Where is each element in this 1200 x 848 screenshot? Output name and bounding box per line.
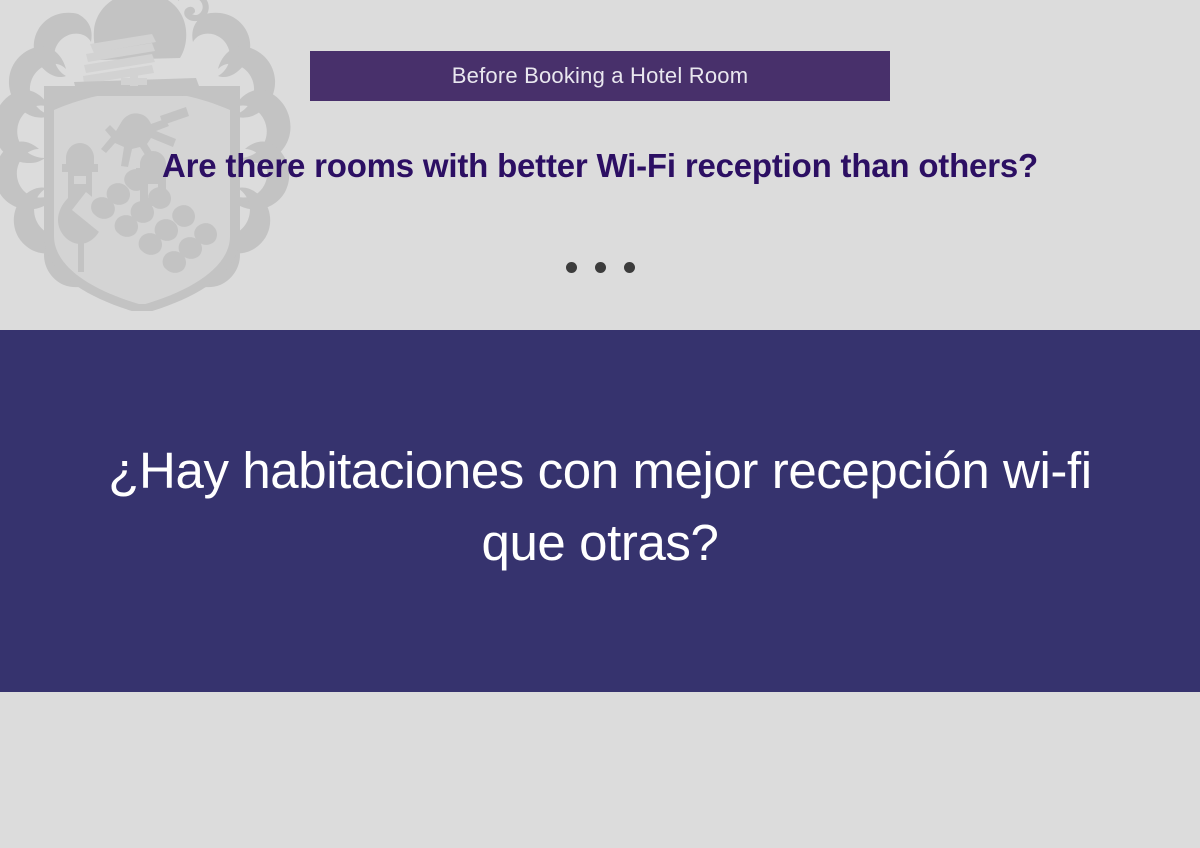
question-english: Are there rooms with better Wi-Fi recept… (50, 142, 1150, 190)
ellipsis-separator-icon (0, 262, 1200, 273)
bottom-filler-area (0, 692, 1200, 848)
header-section: Before Booking a Hotel Room Are there ro… (0, 0, 1200, 330)
page-root: Before Booking a Hotel Room Are there ro… (0, 0, 1200, 848)
category-banner-label: Before Booking a Hotel Room (452, 65, 748, 87)
translation-band: ¿Hay habitaciones con mejor recepción wi… (0, 330, 1200, 692)
ellipsis-dot (566, 262, 577, 273)
ellipsis-dot (624, 262, 635, 273)
question-spanish: ¿Hay habitaciones con mejor recepción wi… (80, 435, 1120, 588)
category-banner: Before Booking a Hotel Room (310, 51, 890, 101)
ellipsis-dot (595, 262, 606, 273)
